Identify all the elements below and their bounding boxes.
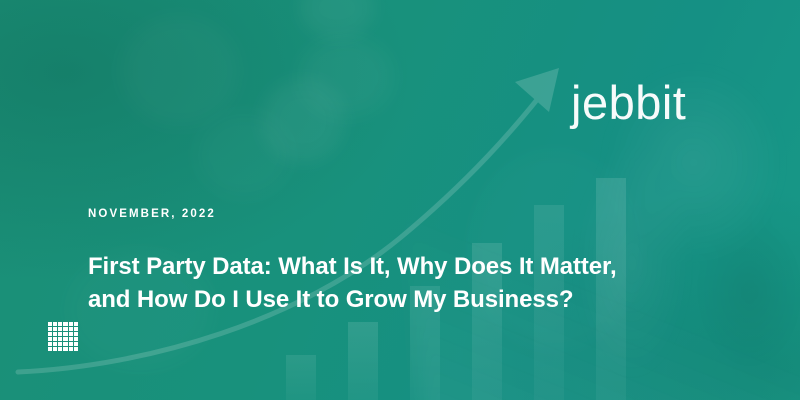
dot-grid-cell [63, 327, 67, 331]
dot-grid-cell [69, 322, 73, 326]
dot-grid-cell [53, 322, 57, 326]
dot-grid-cell [74, 347, 78, 351]
dot-grid-cell [69, 327, 73, 331]
dot-grid-cell [53, 327, 57, 331]
page-title-line-1: First Party Data: What Is It, Why Does I… [88, 253, 617, 280]
dot-grid-cell [48, 337, 52, 341]
dot-grid-cell [58, 342, 62, 346]
publish-date: NOVEMBER, 2022 [88, 209, 216, 221]
dot-grid-cell [53, 347, 57, 351]
jebbit-logo[interactable]: jebbit [571, 79, 686, 126]
dot-grid-cell [74, 332, 78, 336]
dot-grid-cell [58, 332, 62, 336]
dot-grid-cell [63, 347, 67, 351]
page-title-line-2: and How Do I Use It to Grow My Business? [88, 283, 688, 316]
dot-grid-cell [63, 342, 67, 346]
dot-grid-cell [58, 322, 62, 326]
dot-grid-cell [74, 342, 78, 346]
dot-grid-cell [69, 337, 73, 341]
dot-grid-cell [48, 347, 52, 351]
dot-grid-cell [63, 322, 67, 326]
dot-grid-cell [74, 327, 78, 331]
dot-grid-cell [53, 337, 57, 341]
dot-grid-cell [69, 347, 73, 351]
dot-grid-cell [58, 347, 62, 351]
dot-grid-decoration [48, 322, 78, 351]
dot-grid-cell [74, 322, 78, 326]
page-title: First Party Data: What Is It, Why Does I… [88, 250, 688, 316]
dot-grid-cell [48, 342, 52, 346]
dot-grid-cell [48, 327, 52, 331]
dot-grid-cell [74, 337, 78, 341]
blog-header-banner: jebbit NOVEMBER, 2022 First Party Data: … [0, 0, 800, 400]
dot-grid-cell [53, 342, 57, 346]
dot-grid-cell [58, 327, 62, 331]
dot-grid-cell [63, 337, 67, 341]
dot-grid-cell [69, 332, 73, 336]
dot-grid-cell [63, 332, 67, 336]
dot-grid-cell [53, 332, 57, 336]
dot-grid-cell [48, 332, 52, 336]
dot-grid-cell [69, 342, 73, 346]
dot-grid-cell [48, 322, 52, 326]
dot-grid-cell [58, 337, 62, 341]
